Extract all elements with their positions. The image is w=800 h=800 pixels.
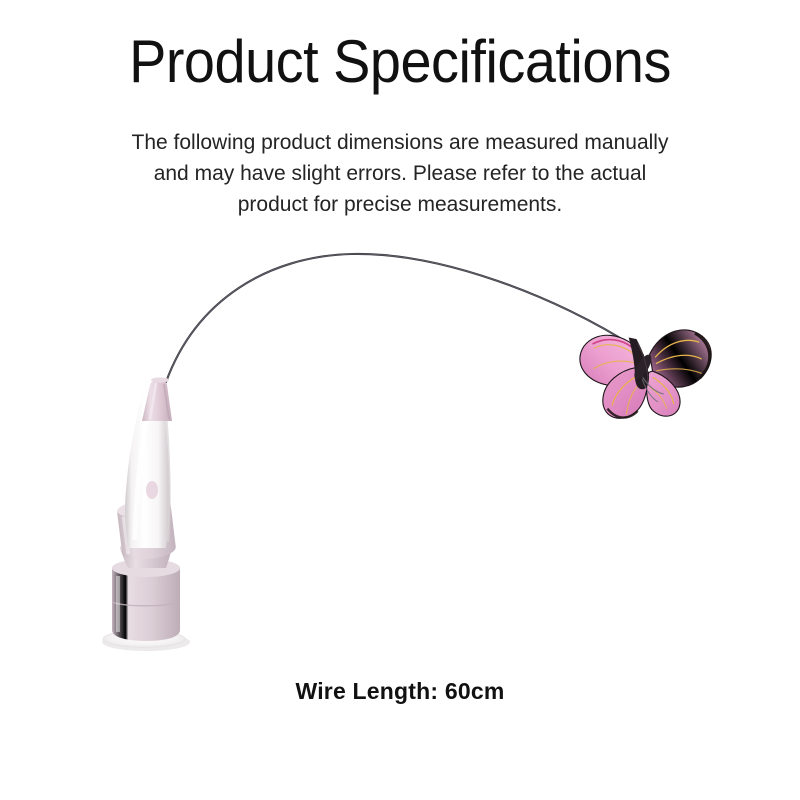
butterfly-wing-upper-left (575, 330, 647, 391)
wire-length-caption: Wire Length: 60cm (0, 676, 800, 706)
base-collar (116, 497, 177, 562)
base-shoulder (120, 540, 172, 568)
wand-body (125, 392, 170, 548)
wand-logo-dot (146, 481, 158, 499)
wand-handle (102, 377, 190, 651)
wand-tip-ferrule (142, 377, 172, 421)
steel-wire (166, 254, 636, 382)
product-spec-page: Product Specifications The following pro… (0, 0, 800, 800)
page-title: Product Specifications (28, 28, 772, 96)
page-description: The following product dimensions are mea… (118, 127, 682, 220)
ground-shadow (102, 633, 190, 651)
suction-cup-disc (103, 631, 185, 648)
butterfly-wing-lower-left (599, 360, 651, 423)
butterfly-charm (569, 309, 716, 434)
base-cylinder (112, 559, 180, 641)
butterfly-wing-lower-right (640, 370, 685, 418)
butterfly-wing-upper-right (644, 323, 716, 393)
butterfly-body (617, 337, 674, 402)
